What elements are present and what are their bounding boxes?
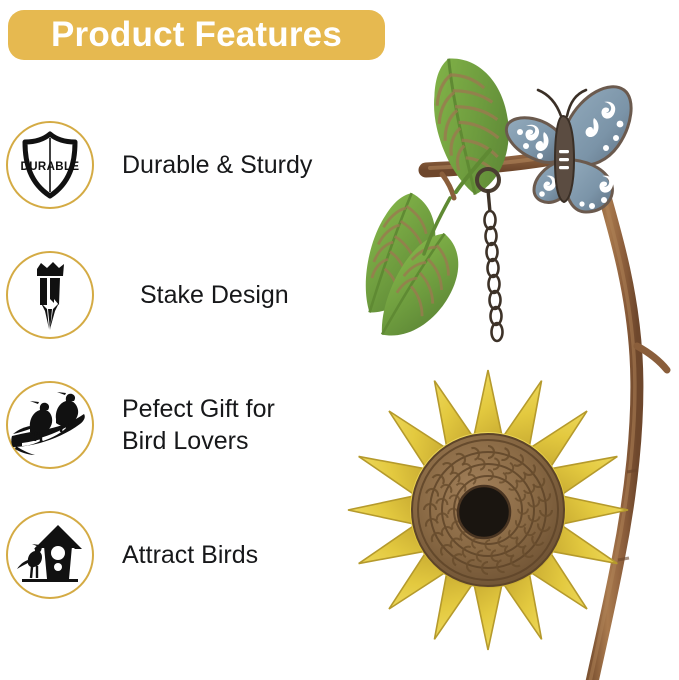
page-title-banner: Product Features xyxy=(8,10,385,60)
metal-butterfly-part xyxy=(506,87,631,212)
feature-label-gift: Pefect Gift for Bird Lovers xyxy=(122,393,275,457)
feature-icon-container: DURABLE xyxy=(0,115,100,215)
feature-label-durable: Durable & Sturdy xyxy=(122,149,312,181)
product-photo-sunflower-birdhouse-stake xyxy=(330,40,679,680)
durable-icon-text: DURABLE xyxy=(20,161,79,173)
feature-label-attract: Attract Birds xyxy=(122,539,258,571)
feature-label-stake: Stake Design xyxy=(140,279,289,311)
two-birds-on-branch-icon xyxy=(14,389,86,461)
feature-icon-container xyxy=(0,245,100,345)
birdhouse-with-bird-icon xyxy=(14,519,86,591)
sunflower-birdhouse-part xyxy=(348,370,628,650)
page-title: Product Features xyxy=(51,17,342,54)
durable-shield-icon: DURABLE xyxy=(14,129,86,201)
infographic-page: Product Features DURABLE Durable & Sturd… xyxy=(0,0,679,680)
stake-pole-part xyxy=(590,190,667,680)
feature-icon-container xyxy=(0,375,100,475)
feature-icon-container xyxy=(0,505,100,605)
hanging-chain-part xyxy=(477,169,503,341)
metal-leaves-part xyxy=(356,47,526,353)
ground-stake-icon xyxy=(14,259,86,331)
